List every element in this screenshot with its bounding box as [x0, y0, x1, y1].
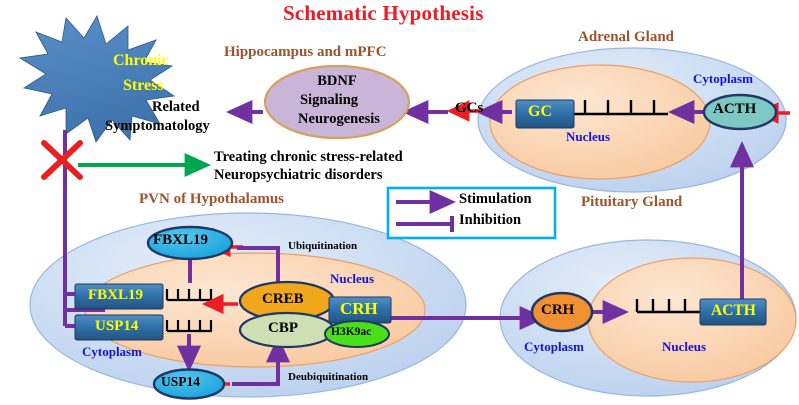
- adrenal-nucleus-label: Nucleus: [566, 130, 610, 143]
- legend-inhibition-label: Inhibition: [459, 213, 521, 228]
- pvn-nucleus-label: Nucleus: [330, 272, 374, 285]
- symptomatology-label-1: Related: [152, 100, 200, 115]
- symptomatology-label-2: Symptomatology: [105, 119, 210, 134]
- pvn-gene-usp14-label: USP14: [95, 319, 138, 334]
- red-x-icon: [44, 143, 80, 177]
- pvn-crh-label: CRH: [340, 300, 378, 317]
- pituitary-header: Pituitary Gland: [581, 195, 682, 210]
- bdnf-label-1: BDNF: [287, 74, 387, 89]
- adrenal-acth-label: ACTH: [713, 102, 756, 117]
- pvn-creb-label: CREB: [262, 292, 304, 307]
- page-title: Schematic Hypothesis: [283, 3, 484, 24]
- pituitary-cytoplasm-label: Cytoplasm: [524, 340, 584, 353]
- adrenal-gc-label: GC: [528, 104, 552, 120]
- legend-stimulation-label: Stimulation: [459, 192, 532, 207]
- pvn-cyto-fbxl19-label: FBXL19: [153, 233, 208, 248]
- pvn-cbp-label: CBP: [268, 321, 298, 336]
- diagram-canvas: Schematic Hypothesis Chronic Stress Hipp…: [0, 0, 799, 405]
- pituitary-acth-label: ACTH: [711, 303, 756, 319]
- pituitary-crh-label: CRH: [541, 303, 574, 318]
- pituitary-nucleus-label: Nucleus: [662, 340, 706, 353]
- pvn-cyto-usp14-label: USP14: [161, 375, 200, 389]
- chronic-stress-label-1: Chronic: [113, 53, 169, 69]
- pvn-gene-fbxl19-label: FBXL19: [88, 288, 143, 303]
- gcs-label: GCs: [455, 101, 483, 116]
- adrenal-header: Adrenal Gland: [578, 30, 674, 45]
- bdnf-label-2: Signaling: [279, 93, 379, 108]
- adrenal-cytoplasm-label: Cytoplasm: [693, 72, 753, 85]
- pvn-header: PVN of Hypothalamus: [139, 192, 284, 207]
- hippocampus-header: Hippocampus and mPFC: [224, 45, 387, 60]
- bdnf-label-3: Neurogenesis: [279, 112, 399, 127]
- treatment-label-2: Neuropsychiatric disorders: [214, 168, 383, 183]
- pvn-h3k9ac-label: H3K9ac: [331, 327, 371, 339]
- chronic-stress-label-2: Stress: [123, 78, 164, 94]
- deubiquitination-label: Deubiquitination: [288, 372, 368, 383]
- ubiquitination-label: Ubiquitination: [288, 241, 357, 252]
- pvn-cytoplasm-label: Cytoplasm: [82, 345, 142, 358]
- treatment-label-1: Treating chronic stress-related: [214, 150, 403, 165]
